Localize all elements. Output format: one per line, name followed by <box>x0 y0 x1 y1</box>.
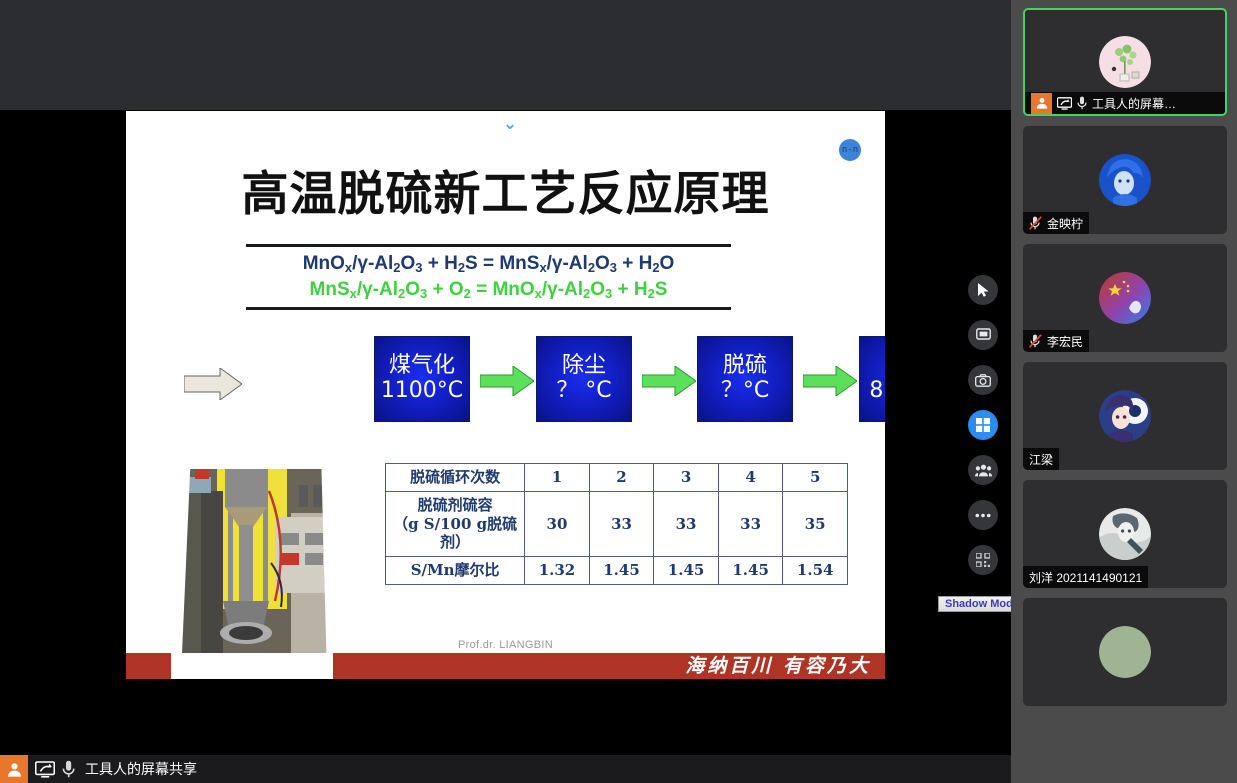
microphone-muted-icon <box>1029 334 1042 348</box>
avatar <box>1099 508 1151 560</box>
avatar <box>1099 626 1151 678</box>
meeting-window: ⌄ n-n 高温脱硫新工艺反应原理 MnOx/γ-Al2O3 + H2S = M… <box>0 0 1237 783</box>
flow-step-1-line2: 1100°C <box>381 379 463 404</box>
participant-tile[interactable] <box>1023 598 1227 706</box>
screen-share-icon <box>35 761 55 778</box>
flow-step-3: 脱硫 ？°C <box>697 336 793 422</box>
person-icon <box>1031 93 1052 114</box>
table-row-header: S/Mn摩尔比 <box>386 557 525 585</box>
participant-name-bar: 李宏民 <box>1023 330 1089 352</box>
participant-tile[interactable]: 金映柠 <box>1023 126 1227 234</box>
avatar <box>1099 272 1151 324</box>
microphone-icon <box>1077 96 1087 110</box>
table-cell: 5 <box>783 464 848 492</box>
participant-name: 工具人的屏幕… <box>1092 95 1176 112</box>
flow-step-1: 煤气化 1100°C <box>374 336 470 422</box>
table-cell: 4 <box>718 464 783 492</box>
table-cell: 1.45 <box>654 557 719 585</box>
formula-row-1: MnOx/γ-Al2O3 + H2S = MnSx/γ-Al2O3 + H2O <box>246 251 731 277</box>
flow-arrow-1-icon <box>480 366 534 396</box>
microphone-muted-icon <box>1029 216 1042 230</box>
annotation-toolbar <box>968 275 998 590</box>
flow-arrow-3-icon <box>803 366 857 396</box>
table-row: 脱硫剂硫容（g S/100 g脱硫剂） 30 33 33 33 35 <box>386 491 848 556</box>
chevron-down-icon[interactable]: ⌄ <box>500 117 520 133</box>
more-icon[interactable] <box>968 500 998 530</box>
participant-name: 江梁 <box>1029 451 1053 468</box>
flow-step-3-line1: 脱硫 <box>723 354 767 379</box>
shared-slide: ⌄ n-n 高温脱硫新工艺反应原理 MnOx/γ-Al2O3 + H2S = M… <box>126 111 885 679</box>
slide-byline: Prof.dr. LIANGBIN <box>126 639 885 651</box>
table-cell: 33 <box>718 491 783 556</box>
share-status-bar: 工具人的屏幕共享 <box>0 755 1011 783</box>
camera-icon[interactable] <box>968 365 998 395</box>
process-flow-diagram: 煤气化 1100°C 除尘 ？ °C 脱硫 ？°C 竖炉 8 <box>184 336 874 431</box>
table-cell: 1.32 <box>525 557 590 585</box>
participant-tile[interactable]: 工具人的屏幕… <box>1023 8 1227 116</box>
avatar <box>1099 154 1151 206</box>
flow-step-2-line1: 除尘 <box>562 354 606 379</box>
participant-name: 李宏民 <box>1047 333 1083 350</box>
table-row: 脱硫循环次数 1 2 3 4 5 <box>386 464 848 492</box>
avatar <box>1099 36 1151 88</box>
avatar <box>1099 390 1151 442</box>
flow-step-4-line2: 850 °C <box>869 379 885 404</box>
table-cell: 1 <box>525 464 590 492</box>
participant-tile[interactable]: 江梁 <box>1023 362 1227 470</box>
slide-footer-calligraphy: 海纳百川 有容乃大 <box>685 651 871 678</box>
table-cell: 1.45 <box>589 557 654 585</box>
formula-row-2: MnSx/γ-Al2O3 + O2 = MnOx/γ-Al2O3 + H2S <box>246 277 731 303</box>
apps-grid-icon[interactable] <box>968 410 998 440</box>
whiteboard-icon[interactable] <box>968 320 998 350</box>
flow-step-1-line1: 煤气化 <box>389 354 455 379</box>
pointer-icon[interactable] <box>968 275 998 305</box>
table-cell: 2 <box>589 464 654 492</box>
table-row-header: 脱硫循环次数 <box>386 464 525 492</box>
reaction-formulas: MnOx/γ-Al2O3 + H2S = MnSx/γ-Al2O3 + H2O … <box>246 244 731 310</box>
slide-footer-gap <box>171 653 333 679</box>
flow-step-3-line2: ？°C <box>721 379 769 404</box>
top-strip <box>0 0 1011 110</box>
screen-share-icon <box>1057 97 1072 110</box>
participant-name-bar: 工具人的屏幕… <box>1025 92 1225 114</box>
participant-tile[interactable]: 刘洋 2021141490121 <box>1023 480 1227 588</box>
slide-title: 高温脱硫新工艺反应原理 <box>126 155 885 224</box>
participants-icon[interactable] <box>968 455 998 485</box>
flow-step-4: 竖炉 850 °C <box>859 336 885 422</box>
table-cell: 1.54 <box>783 557 848 585</box>
participants-rail[interactable]: 工具人的屏幕… 金映柠 李宏民 <box>1011 0 1237 783</box>
flow-step-2: 除尘 ？ °C <box>536 336 632 422</box>
participant-name-bar: 刘洋 2021141490121 <box>1023 566 1148 588</box>
microphone-icon <box>62 760 75 778</box>
table-cell: 30 <box>525 491 590 556</box>
table-cell: 1.45 <box>718 557 783 585</box>
share-status-label: 工具人的屏幕共享 <box>85 759 197 779</box>
table-cell: 3 <box>654 464 719 492</box>
table-cell: 33 <box>654 491 719 556</box>
table-row-header: 脱硫剂硫容（g S/100 g脱硫剂） <box>386 491 525 556</box>
flow-step-2-line2: ？ °C <box>556 379 611 404</box>
qr-code-icon[interactable] <box>968 545 998 575</box>
participant-name: 刘洋 2021141490121 <box>1029 569 1142 586</box>
input-arrow-icon <box>184 368 242 400</box>
participant-name: 金映柠 <box>1047 215 1083 232</box>
table-row: S/Mn摩尔比 1.32 1.45 1.45 1.45 1.54 <box>386 557 848 585</box>
table-cell: 33 <box>589 491 654 556</box>
table-cell: 35 <box>783 491 848 556</box>
flow-arrow-2-icon <box>642 366 696 396</box>
participant-name-bar: 金映柠 <box>1023 212 1089 234</box>
participant-tile[interactable]: 李宏民 <box>1023 244 1227 352</box>
person-icon <box>0 755 28 783</box>
desulfurization-data-table: 脱硫循环次数 1 2 3 4 5 脱硫剂硫容（g S/100 g脱硫剂） 30 … <box>385 463 848 585</box>
participant-name-bar: 江梁 <box>1023 448 1059 470</box>
